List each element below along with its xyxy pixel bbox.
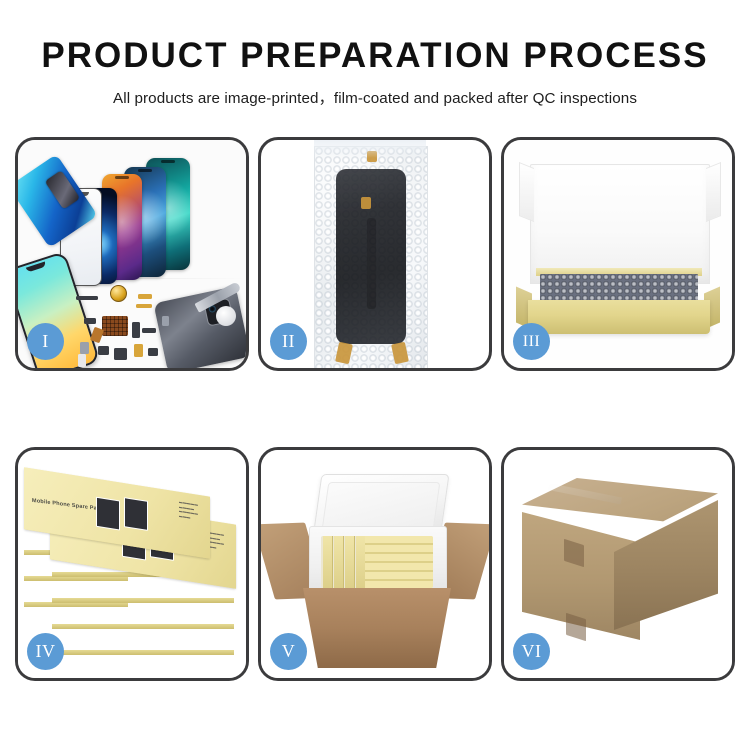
packed-yellow-boxes	[321, 536, 433, 588]
box-window	[96, 497, 120, 531]
page-title: PRODUCT PREPARATION PROCESS	[0, 38, 750, 75]
step-badge-3: III	[513, 323, 550, 360]
lcd-assembly	[336, 169, 406, 344]
step-badge-2: II	[270, 323, 307, 360]
inner-box-lid	[530, 164, 710, 284]
part-flex-cable	[138, 294, 152, 299]
bubble-wrapped-contents	[540, 274, 698, 302]
box-edge	[52, 624, 234, 629]
yellow-box	[334, 536, 344, 588]
cotton-swab-icon	[216, 306, 236, 326]
yellow-box	[345, 536, 355, 588]
bubble-wrap-bag	[314, 146, 428, 368]
part-metal-clip	[80, 342, 89, 354]
step-card-6[interactable]: VI	[501, 447, 735, 681]
spare-parts-cluster	[76, 286, 198, 368]
inner-box-front	[528, 300, 710, 334]
step-2-image: II	[261, 140, 489, 368]
step-card-2[interactable]: II	[258, 137, 492, 371]
step-card-1[interactable]: I	[15, 137, 249, 371]
step-card-3[interactable]: III	[501, 137, 735, 371]
step-6-image: VI	[504, 450, 732, 678]
part-screw-post	[132, 322, 140, 338]
step-badge-6: VI	[513, 633, 550, 670]
part-chip	[148, 348, 158, 356]
part-chip	[84, 318, 96, 324]
step-4-image: Mobile Phone Spare Parts ▬▬▬▬▬▬▬▬▬▬▬▬▬▬▬…	[18, 450, 246, 678]
part-flex-cable	[134, 344, 143, 357]
step-card-5[interactable]: V	[258, 447, 492, 681]
box-stack: Mobile Phone Spare Parts ▬▬▬▬▬▬▬▬▬▬▬▬▬▬▬…	[22, 468, 246, 664]
sealed-carton	[522, 478, 718, 646]
flex-connector	[335, 342, 353, 364]
part-flex-cable	[136, 304, 152, 308]
step-1-image: I	[18, 140, 246, 368]
box-window	[124, 497, 148, 531]
box-spec-lines: ▬▬▬▬▬▬▬▬▬▬▬▬▬▬▬▬▬	[179, 500, 198, 521]
yellow-box	[323, 536, 333, 588]
part-strip	[76, 296, 98, 300]
box-edge	[52, 598, 234, 603]
flex-connector	[391, 342, 409, 364]
step-card-4[interactable]: Mobile Phone Spare Parts ▬▬▬▬▬▬▬▬▬▬▬▬▬▬▬…	[15, 447, 249, 681]
page-header: PRODUCT PREPARATION PROCESS All products…	[0, 0, 750, 108]
phone-notch-icon	[161, 160, 175, 163]
speaker-module-icon	[110, 285, 127, 302]
box-edge	[52, 650, 234, 655]
bag-seal-edge	[314, 140, 426, 158]
part-metal-clip	[162, 316, 169, 326]
part-camera-module	[114, 348, 127, 360]
yellow-box-row	[365, 536, 433, 588]
step-badge-4: IV	[27, 633, 64, 670]
phone-notch-icon	[115, 176, 129, 179]
process-step-grid: I II III	[15, 137, 735, 681]
part-sim-tray	[78, 354, 86, 367]
carton-body	[303, 588, 451, 668]
part-connector	[90, 327, 104, 344]
part-button	[98, 346, 109, 355]
page-subtitle: All products are image-printed，film-coat…	[0, 86, 750, 108]
chip-array-icon	[102, 316, 128, 336]
step-3-image: III	[504, 140, 732, 368]
step-5-image: V	[261, 450, 489, 678]
step-badge-1: I	[27, 323, 64, 360]
flex-connector	[361, 197, 371, 209]
step-badge-5: V	[270, 633, 307, 670]
lcd-ribbon-cable	[367, 218, 376, 309]
phone-notch-icon	[138, 169, 152, 172]
part-bracket	[142, 328, 156, 333]
